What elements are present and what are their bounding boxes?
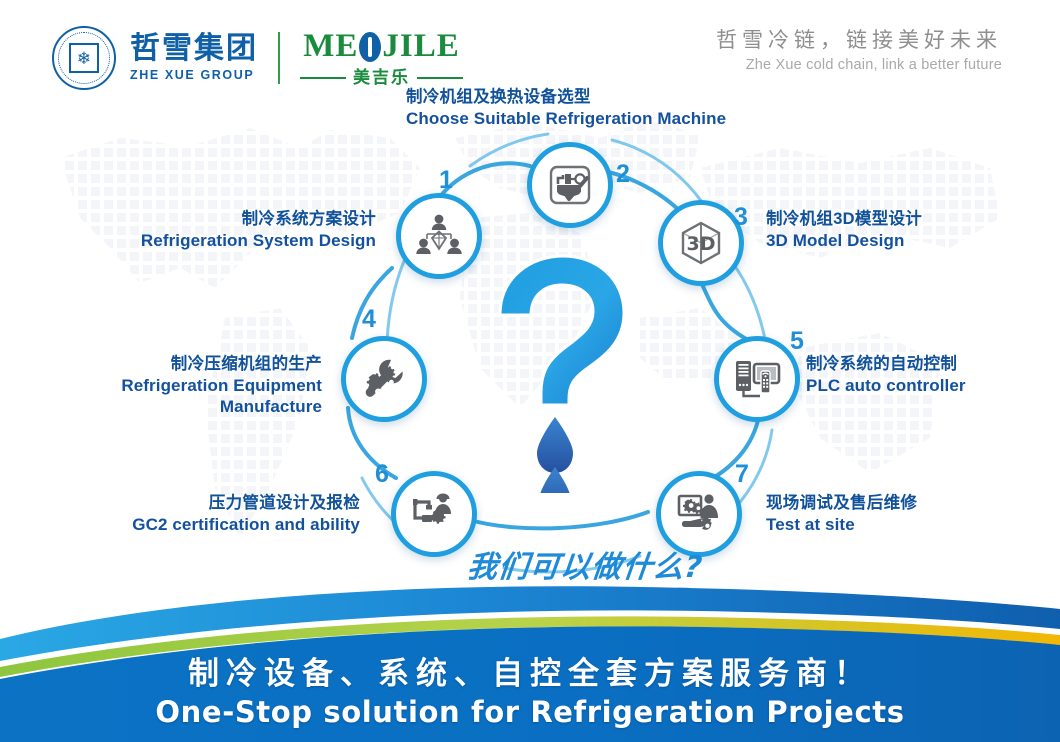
brand-name-cn: 美吉乐 [353,69,410,86]
pipeline-engineer-icon [410,490,458,538]
step-label-1: 制冷系统方案设计 Refrigeration System Design [70,210,376,252]
step-label-5-cn: 制冷系统的自动控制 [806,355,1056,374]
step-number-6: 6 [375,460,389,489]
step-label-7-cn: 现场调试及售后维修 [766,494,1016,513]
brand-wordmark: ME JILE [303,30,460,63]
compressor-check-icon [546,161,594,209]
3d-cube-icon: 3D [677,219,725,267]
step-number-1: 1 [439,166,453,195]
step-node-3[interactable]: 3D [658,200,744,286]
wrench-gears-icon [360,355,408,403]
bottom-banner-text: 制冷设备、系统、自控全套方案服务商！ One-Stop solution for… [0,655,1060,730]
brand-rule-right [417,77,463,79]
step-label-1-en: Refrigeration System Design [70,231,376,251]
company-name-cn: 哲雪集团 [130,34,258,64]
step-label-2-cn: 制冷机组及换热设备选型 [406,88,826,107]
step-node-2[interactable] [527,142,613,228]
company-name-en: ZHE XUE GROUP [130,69,258,82]
slogan-cn: 哲雪冷链，链接美好未来 [716,28,1002,54]
infographic-poster: ❄ 哲雪集团 ZHE XUE GROUP ME JILE 美吉乐 [0,0,1060,742]
technician-service-icon [675,490,723,538]
step-label-2-en: Choose Suitable Refrigeration Machine [406,109,826,129]
step-number-2: 2 [616,160,630,189]
svg-text:3D: 3D [687,233,716,255]
step-label-5: 制冷系统的自动控制 PLC auto controller [806,355,1056,397]
step-node-4[interactable] [341,336,427,422]
company-name-block: 哲雪集团 ZHE XUE GROUP [130,34,258,82]
step-number-7: 7 [735,460,749,489]
question-mark-graphic [487,253,637,493]
step-label-5-en: PLC auto controller [806,376,1056,396]
step-number-4: 4 [362,305,376,334]
brand-o-icon [359,32,381,62]
banner-cn: 制冷设备、系统、自控全套方案服务商！ [0,655,1060,694]
snowflake-seal-icon: ❄ [52,26,116,90]
step-node-1[interactable] [396,193,482,279]
step-label-7: 现场调试及售后维修 Test at site [766,494,1016,536]
step-node-5[interactable] [714,336,800,422]
plc-cabinet-hmi-icon [733,355,781,403]
step-label-6-en: GC2 certification and ability [60,515,360,535]
brand-wordmark-right: JILE [382,30,459,63]
step-label-3-cn: 制冷机组3D模型设计 [766,210,1036,229]
slogan-en: Zhe Xue cold chain, link a better future [716,57,1002,73]
step-label-2: 制冷机组及换热设备选型 Choose Suitable Refrigeratio… [406,88,826,130]
step-label-4-en: Refrigeration Equipment Manufacture [16,376,322,416]
step-label-4: 制冷压缩机组的生产 Refrigeration Equipment Manufa… [16,355,322,417]
step-label-1-cn: 制冷系统方案设计 [70,210,376,229]
step-number-5: 5 [790,327,804,356]
step-label-7-en: Test at site [766,515,1016,535]
step-label-4-cn: 制冷压缩机组的生产 [16,355,322,374]
brand-subtitle: 美吉乐 [300,69,463,86]
step-label-3: 制冷机组3D模型设计 3D Model Design [766,210,1036,252]
brand-rule-left [300,77,346,79]
step-label-6-cn: 压力管道设计及报检 [60,494,360,513]
company-logo: ❄ 哲雪集团 ZHE XUE GROUP ME JILE 美吉乐 [52,26,463,90]
step-label-6: 压力管道设计及报检 GC2 certification and ability [60,494,360,536]
logo-divider [278,32,280,84]
step-label-3-en: 3D Model Design [766,231,1036,251]
poster-header: ❄ 哲雪集团 ZHE XUE GROUP ME JILE 美吉乐 [0,0,1060,98]
step-number-3: 3 [734,203,748,232]
brand-wordmark-left: ME [303,30,358,63]
step-node-6[interactable] [391,471,477,557]
header-slogan: 哲雪冷链，链接美好未来 Zhe Xue cold chain, link a b… [716,28,1002,73]
banner-en: One-Stop solution for Refrigeration Proj… [0,695,1060,730]
team-network-diamond-icon [415,212,463,260]
step-node-7[interactable] [656,471,742,557]
brand-logo-block: ME JILE 美吉乐 [300,30,463,86]
